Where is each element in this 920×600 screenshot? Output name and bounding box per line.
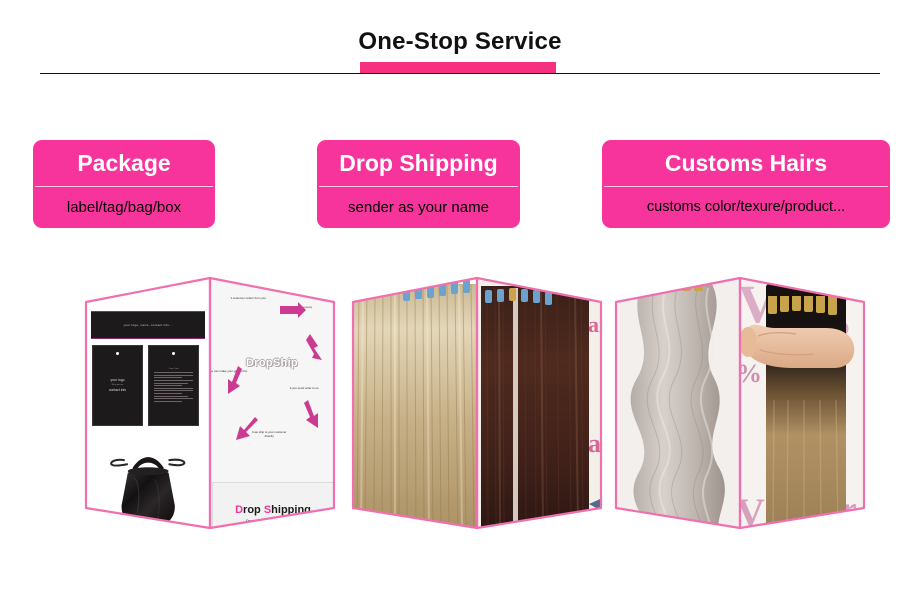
header-accent-bar — [360, 62, 556, 73]
hang-tag-left: your logo Who you are contact info — [92, 345, 143, 425]
header-divider-line — [40, 73, 880, 74]
watermark-text: air — [588, 312, 609, 337]
drawstring-bag-image — [109, 432, 187, 548]
showcase-box-tape-hair[interactable]: air air — [345, 270, 609, 560]
feature-card-subtitle: sender as your name — [317, 187, 520, 228]
feature-card-customs-hairs[interactable]: Customs Hairs customs color/texure/produ… — [602, 140, 890, 228]
watermark-text: air — [588, 429, 609, 458]
hang-tag-contact-text: contact info — [109, 387, 126, 394]
feature-card-row: Package label/tag/bag/box Drop Shipping … — [0, 140, 920, 232]
showcase-box-package[interactable]: your logo, name, contact info... your lo… — [78, 270, 342, 560]
grey-wavy-hair-photo — [631, 284, 725, 536]
page-header: One-Stop Service — [0, 0, 920, 95]
page-title: One-Stop Service — [0, 27, 920, 57]
dropship-label-rop: rop — [243, 504, 264, 516]
hang-tag-right: Care Card — [148, 345, 199, 425]
feature-card-title: Package — [33, 140, 215, 186]
tag-hole-icon — [116, 352, 119, 355]
feature-card-drop-shipping[interactable]: Drop Shipping sender as your name — [317, 140, 520, 228]
one-stop-service-page: One-Stop Service Package label/tag/bag/b… — [0, 0, 920, 600]
feature-card-package[interactable]: Package label/tag/bag/box — [33, 140, 215, 228]
feature-card-subtitle: label/tag/bag/box — [33, 187, 215, 228]
dropship-label-box: Drop Shipping (sender with your name) — [212, 482, 334, 548]
dropship-diagram: DropShip 1.customer orders from you 2.yo… — [202, 270, 342, 560]
showcase-box-customs-hair[interactable]: V g % gi V ir — [608, 270, 872, 560]
feature-card-title: Customs Hairs — [602, 140, 890, 186]
feature-card-subtitle: customs color/texure/product... — [602, 187, 890, 228]
logo-banner-text: your logo, name, contact info... — [124, 323, 173, 327]
dropship-label-d: D — [235, 504, 243, 516]
showcase-row: your logo, name, contact info... your lo… — [0, 270, 920, 570]
ombre-hair-photo — [766, 290, 846, 532]
package-photo: your logo, name, contact info... your lo… — [78, 270, 218, 560]
feature-card-title: Drop Shipping — [317, 140, 520, 186]
tag-hole-icon — [172, 352, 175, 355]
hang-tag-logo-text: your logo — [111, 377, 125, 384]
logo-banner: your logo, name, contact info... — [91, 311, 206, 339]
care-card-lines — [154, 371, 192, 404]
